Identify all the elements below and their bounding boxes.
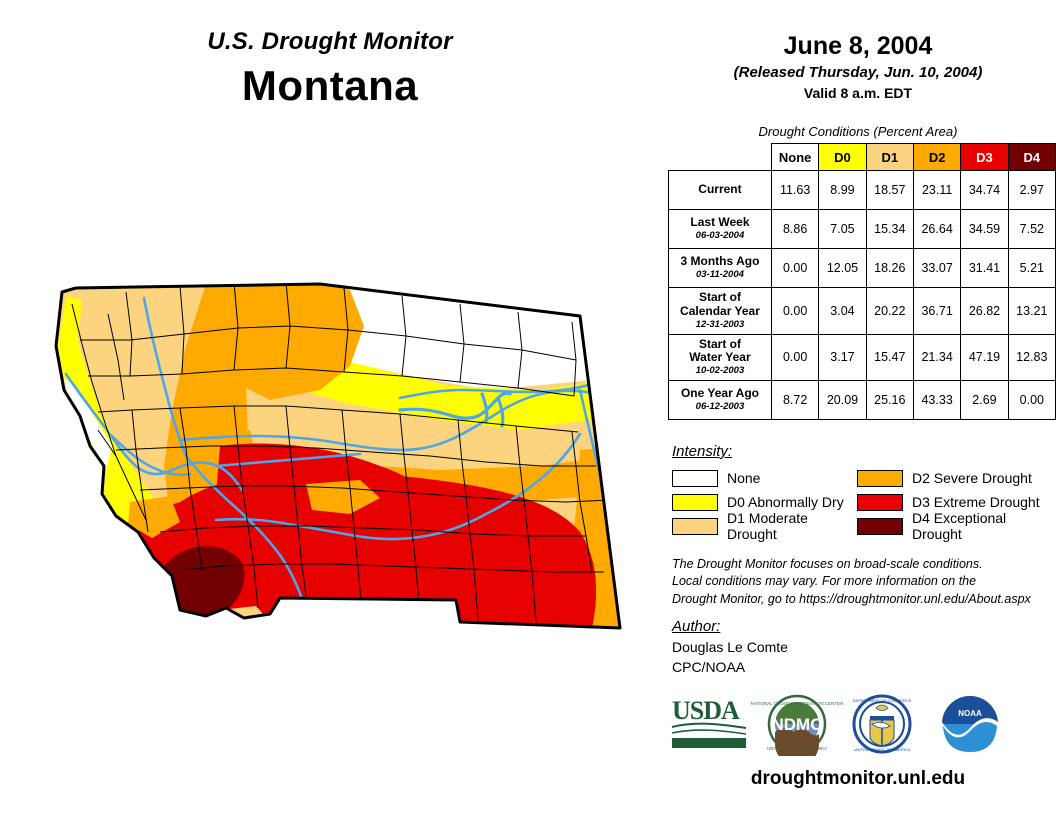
- disclaimer: The Drought Monitor focuses on broad-sca…: [672, 556, 1052, 608]
- cell-d1: 15.34: [866, 210, 913, 249]
- row-label-current: Current: [669, 171, 772, 210]
- cell-d2: 21.34: [913, 334, 960, 381]
- region-title: Montana: [0, 62, 660, 110]
- cell-none: 8.86: [771, 210, 818, 249]
- cell-none: 0.00: [771, 288, 818, 335]
- table-row: Start ofCalendar Year 12-31-2003 0.00 3.…: [669, 288, 1056, 335]
- legend-swatch-d4: [857, 518, 903, 535]
- cell-none: 0.00: [771, 334, 818, 381]
- legend-swatch-d1: [672, 518, 718, 535]
- column-header-d0: D0: [819, 144, 866, 171]
- valid-time: Valid 8 a.m. EDT: [660, 85, 1056, 101]
- cell-d1: 18.57: [866, 171, 913, 210]
- row-label-3-months-ago: 3 Months Ago 03-11-2004: [669, 249, 772, 288]
- legend-label: D1 Moderate Drought: [727, 510, 857, 542]
- row-label-text: Start ofCalendar Year: [680, 290, 760, 318]
- author-heading: Author:: [672, 618, 720, 635]
- cell-none: 11.63: [771, 171, 818, 210]
- row-label-date: 06-12-2003: [671, 402, 769, 413]
- row-label-one-year-ago: One Year Ago 06-12-2003: [669, 381, 772, 420]
- legend-label: None: [727, 470, 760, 486]
- cell-d2: 23.11: [913, 171, 960, 210]
- cell-d2: 26.64: [913, 210, 960, 249]
- montana-drought-map: [20, 270, 660, 650]
- drought-conditions-table: None D0 D1 D2 D3 D4 Current 11.63 8.99 1…: [668, 143, 1056, 420]
- cell-d4: 12.83: [1008, 334, 1055, 381]
- row-label-text: Start ofWater Year: [689, 337, 750, 365]
- row-label-text: Last Week: [690, 215, 749, 229]
- row-label-date: 03-11-2004: [671, 270, 769, 281]
- cell-d2: 43.33: [913, 381, 960, 420]
- cell-d4: 5.21: [1008, 249, 1055, 288]
- row-label-last-week: Last Week 06-03-2004: [669, 210, 772, 249]
- svg-text:NATIONAL DROUGHT MITIGATION CE: NATIONAL DROUGHT MITIGATION CENTER: [751, 701, 845, 706]
- table-header-row: None D0 D1 D2 D3 D4: [669, 144, 1056, 171]
- cell-d1: 25.16: [866, 381, 913, 420]
- row-label-start-of-calendar-year: Start ofCalendar Year 12-31-2003: [669, 288, 772, 335]
- cell-d4: 13.21: [1008, 288, 1055, 335]
- cell-d0: 20.09: [819, 381, 866, 420]
- legend-item-d1: D1 Moderate Drought: [672, 514, 857, 538]
- cell-d0: 7.05: [819, 210, 866, 249]
- author-affiliation: CPC/NOAA: [672, 658, 788, 678]
- cell-d3: 34.59: [961, 210, 1008, 249]
- column-header-d3: D3: [961, 144, 1008, 171]
- legend-label: D0 Abnormally Dry: [727, 494, 844, 510]
- svg-text:USDA: USDA: [672, 696, 740, 725]
- legend-label: D4 Exceptional Drought: [912, 510, 1042, 542]
- noaa-logo: NOAA: [942, 696, 998, 752]
- commerce-seal: DEPARTMENT OF COMMERCE UNITED STATES OF …: [853, 696, 912, 752]
- legend-swatch-d3: [857, 494, 903, 511]
- legend-label: D3 Extreme Drought: [912, 494, 1040, 510]
- map-svg: [20, 270, 660, 650]
- usda-logo: USDA: [672, 696, 746, 748]
- cell-d1: 20.22: [866, 288, 913, 335]
- logo-row: USDA NDMC NATIONAL DROUGHT MITIGATION CE…: [660, 694, 1056, 756]
- site-url: droughtmonitor.unl.edu: [660, 768, 1056, 790]
- row-label-text: Current: [698, 182, 741, 196]
- map-date: June 8, 2004: [660, 32, 1056, 61]
- cell-d0: 12.05: [819, 249, 866, 288]
- legend-heading: Intensity:: [672, 443, 732, 460]
- cell-d0: 3.04: [819, 288, 866, 335]
- svg-text:DEPARTMENT OF COMMERCE: DEPARTMENT OF COMMERCE: [853, 698, 912, 703]
- row-label-start-of-water-year: Start ofWater Year 10-02-2003: [669, 334, 772, 381]
- cell-d3: 31.41: [961, 249, 1008, 288]
- ndmc-logo: NDMC NATIONAL DROUGHT MITIGATION CENTER …: [751, 696, 845, 756]
- author-block: Douglas Le Comte CPC/NOAA: [672, 638, 788, 678]
- legend-swatch-d2: [857, 470, 903, 487]
- cell-d3: 2.69: [961, 381, 1008, 420]
- drought-polygons: [20, 270, 660, 650]
- table-row: Last Week 06-03-2004 8.86 7.05 15.34 26.…: [669, 210, 1056, 249]
- release-date: (Released Thursday, Jun. 10, 2004): [660, 64, 1056, 81]
- column-header-d1: D1: [866, 144, 913, 171]
- cell-d2: 36.71: [913, 288, 960, 335]
- cell-d1: 18.26: [866, 249, 913, 288]
- column-header-d2: D2: [913, 144, 960, 171]
- legend-swatch-d0: [672, 494, 718, 511]
- legend-item-d2: D2 Severe Drought: [857, 466, 1042, 490]
- row-label-text: 3 Months Ago: [681, 254, 760, 268]
- author-name: Douglas Le Comte: [672, 638, 788, 658]
- row-label-date: 06-03-2004: [671, 231, 769, 242]
- legend-swatch-none: [672, 470, 718, 487]
- row-label-date: 12-31-2003: [671, 320, 769, 331]
- table-row: One Year Ago 06-12-2003 8.72 20.09 25.16…: [669, 381, 1056, 420]
- svg-text:UNITED STATES OF AMERICA: UNITED STATES OF AMERICA: [854, 747, 911, 752]
- table-corner-cell: [669, 144, 772, 171]
- table-caption: Drought Conditions (Percent Area): [660, 124, 1056, 139]
- cell-d0: 3.17: [819, 334, 866, 381]
- cell-d0: 8.99: [819, 171, 866, 210]
- cell-d3: 47.19: [961, 334, 1008, 381]
- cell-d4: 0.00: [1008, 381, 1055, 420]
- table-row: Current 11.63 8.99 18.57 23.11 34.74 2.9…: [669, 171, 1056, 210]
- product-title: U.S. Drought Monitor: [0, 28, 660, 56]
- cell-d2: 33.07: [913, 249, 960, 288]
- column-header-none: None: [771, 144, 818, 171]
- column-header-d4: D4: [1008, 144, 1055, 171]
- legend-item-none: None: [672, 466, 857, 490]
- disclaimer-line-3: Drought Monitor, go to https://droughtmo…: [672, 591, 1052, 608]
- row-label-text: One Year Ago: [681, 386, 759, 400]
- cell-d1: 15.47: [866, 334, 913, 381]
- table-row: Start ofWater Year 10-02-2003 0.00 3.17 …: [669, 334, 1056, 381]
- disclaimer-line-2: Local conditions may vary. For more info…: [672, 573, 1052, 590]
- table-row: 3 Months Ago 03-11-2004 0.00 12.05 18.26…: [669, 249, 1056, 288]
- cell-none: 8.72: [771, 381, 818, 420]
- svg-text:NOAA: NOAA: [958, 709, 982, 718]
- legend-label: D2 Severe Drought: [912, 470, 1032, 486]
- cell-d4: 2.97: [1008, 171, 1055, 210]
- row-label-date: 10-02-2003: [671, 366, 769, 377]
- cell-none: 0.00: [771, 249, 818, 288]
- cell-d3: 26.82: [961, 288, 1008, 335]
- svg-text:NDMC: NDMC: [772, 715, 823, 734]
- cell-d4: 7.52: [1008, 210, 1055, 249]
- intensity-legend: None D2 Severe Drought D0 Abnormally Dry…: [672, 466, 1042, 538]
- svg-text:UNIVERSITY OF NEBRASKA: UNIVERSITY OF NEBRASKA: [767, 746, 827, 751]
- disclaimer-line-1: The Drought Monitor focuses on broad-sca…: [672, 556, 1052, 573]
- legend-item-d4: D4 Exceptional Drought: [857, 514, 1042, 538]
- cell-d3: 34.74: [961, 171, 1008, 210]
